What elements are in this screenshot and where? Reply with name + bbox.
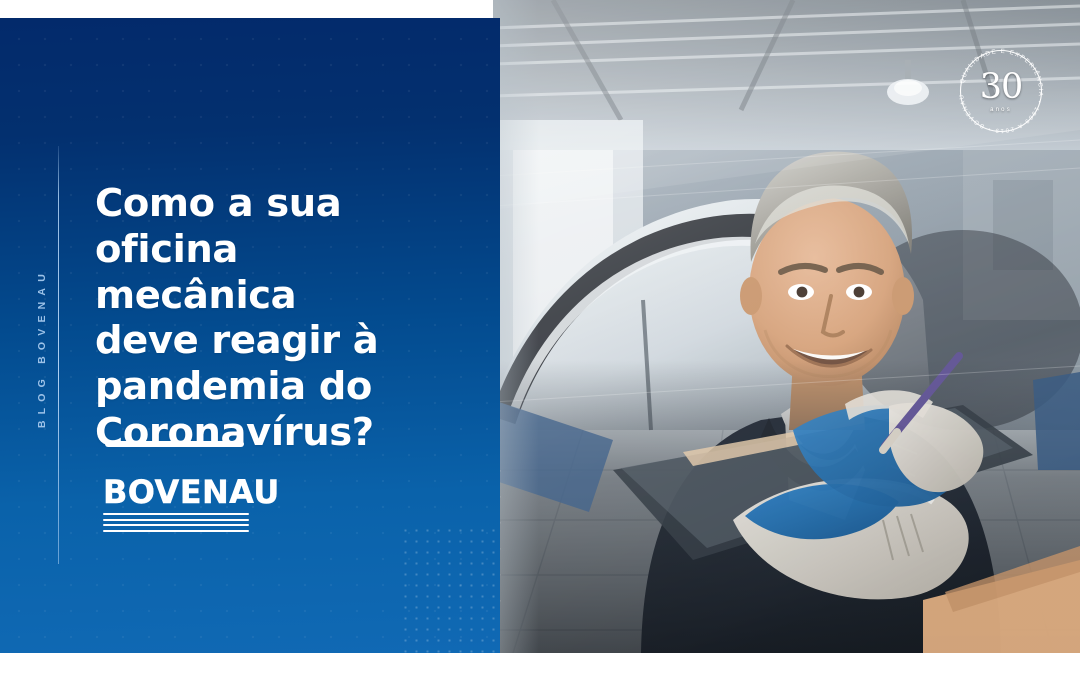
title-divider [105,441,244,447]
anniversary-seal: QUALIDADE E EXPERIÊNCIA • 1989 A 2019 • … [952,42,1050,140]
logo-wordmark: BOVENAU [103,476,249,508]
seal-number: 30 [980,70,1023,105]
headline-line-5: Coronavírus? [95,410,430,456]
headline-line-4: pandemia do [95,364,430,410]
bovenau-logo[interactable]: BOVENAU [103,476,249,532]
seal-unit: anos [990,107,1012,113]
logo-rule-4 [103,530,249,532]
seal-center: 30 anos [952,42,1050,140]
logo-rule-2 [103,519,249,521]
left-blue-panel: BLOG BOVENAU Como a sua oficina mecânica… [0,18,500,653]
dot-pattern-block [398,523,500,653]
headline-line-2: oficina mecânica [95,227,430,319]
logo-rule-1 [103,513,249,515]
page-title: Como a sua oficina mecânica deve reagir … [95,181,430,456]
headline-line-3: deve reagir à [95,318,430,364]
headline-line-1: Como a sua [95,181,430,227]
banner-canvas: QUALIDADE E EXPERIÊNCIA • 1989 A 2019 • … [0,0,1080,675]
blog-kicker: BLOG BOVENAU [36,268,80,428]
logo-rule-3 [103,524,249,526]
logo-underline-rules [103,513,249,532]
